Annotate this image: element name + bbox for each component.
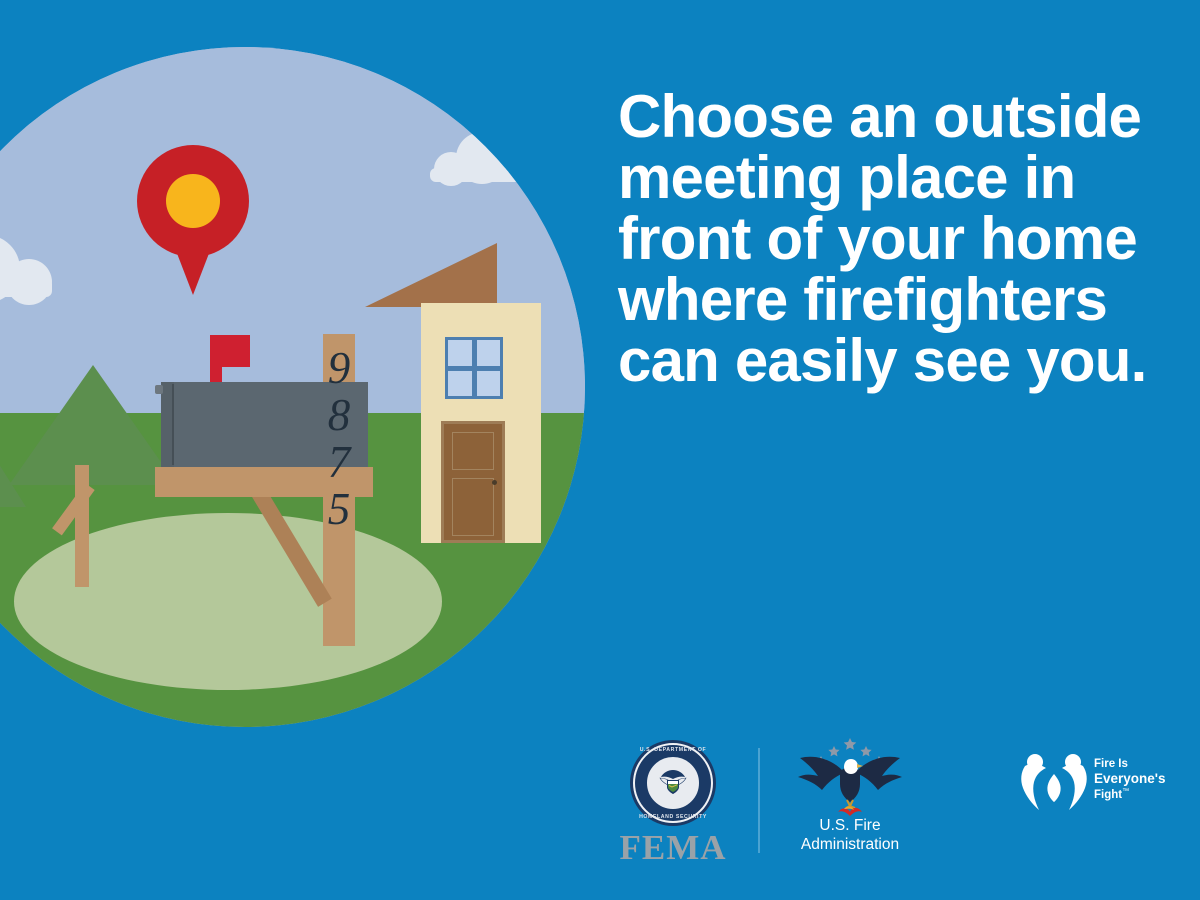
dhs-seal-text-bottom: HOMELAND SECURITY bbox=[630, 814, 716, 820]
house-number-digit: 5 bbox=[323, 486, 355, 533]
feef-wordmark: Fire Is Everyone's Fight™ bbox=[1094, 758, 1170, 802]
usfa-eagle-icon bbox=[790, 736, 910, 818]
feef-line2: Everyone's bbox=[1094, 772, 1170, 786]
dhs-seal-icon: U.S. DEPARTMENT OF HOMELAND SECURITY bbox=[630, 740, 716, 826]
usfa-wordmark-line2: Administration bbox=[784, 835, 916, 854]
trademark-symbol: ™ bbox=[1122, 788, 1129, 795]
footer-logo-bar: U.S. DEPARTMENT OF HOMELAND SECURITY FEM… bbox=[0, 728, 1200, 868]
house-number-digit: 7 bbox=[323, 439, 355, 486]
house-number-digit: 9 bbox=[323, 345, 355, 392]
cloud-icon bbox=[0, 235, 70, 295]
mailbox-brace bbox=[252, 489, 332, 607]
usfa-wordmark: U.S. Fire Administration bbox=[784, 816, 916, 854]
house-roof bbox=[365, 243, 497, 307]
usfa-wordmark-line1: U.S. Fire bbox=[784, 816, 916, 835]
two-figures-flame-icon bbox=[1018, 750, 1090, 812]
fema-logo: U.S. DEPARTMENT OF HOMELAND SECURITY FEM… bbox=[608, 740, 738, 860]
mailbox-illustration: 9875 bbox=[155, 335, 475, 727]
map-pin-icon bbox=[137, 145, 249, 297]
footer-divider bbox=[758, 748, 760, 853]
feef-line3: Fight bbox=[1094, 789, 1122, 801]
dhs-eagle-shield-icon bbox=[658, 768, 688, 798]
mailbox-flag-icon bbox=[210, 335, 250, 367]
mailbox-lip bbox=[155, 385, 163, 394]
cloud-icon bbox=[430, 132, 540, 182]
fema-wordmark: FEMA bbox=[608, 828, 738, 868]
house-number-digit: 8 bbox=[323, 392, 355, 439]
fire-is-everyones-fight-logo: Fire Is Everyone's Fight™ bbox=[1018, 750, 1168, 830]
door-knob-icon bbox=[492, 480, 497, 485]
pine-tree-icon bbox=[0, 365, 175, 475]
mailbox-door-seam bbox=[172, 384, 174, 465]
feef-line1: Fire Is bbox=[1094, 758, 1170, 772]
usfa-logo: U.S. Fire Administration bbox=[790, 736, 910, 864]
house-number: 9875 bbox=[323, 345, 355, 533]
page-title: Choose an outside meeting place in front… bbox=[618, 86, 1158, 391]
dhs-seal-text-top: U.S. DEPARTMENT OF bbox=[630, 747, 716, 753]
illustration-circle: 9875 bbox=[0, 47, 585, 727]
